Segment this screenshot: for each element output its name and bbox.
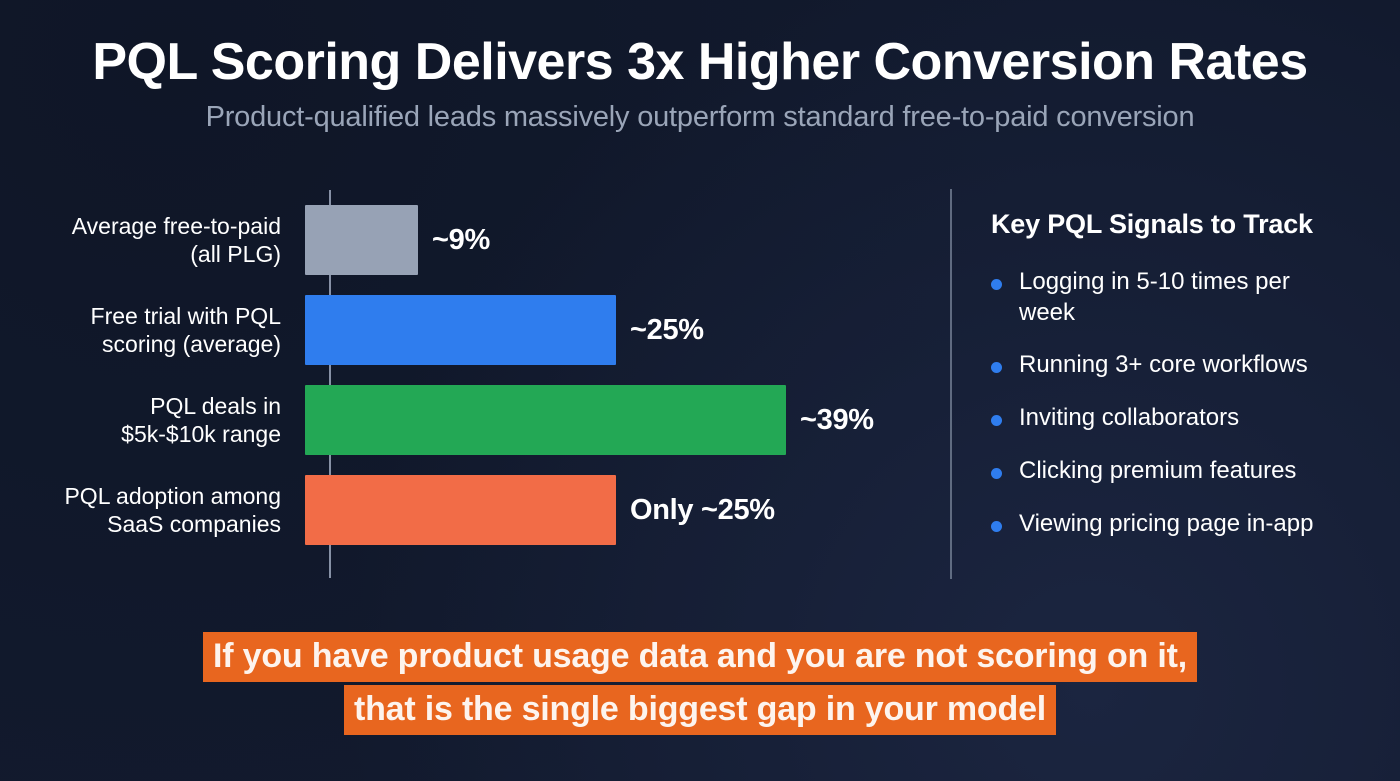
bar-track: Only ~25% <box>305 475 950 545</box>
signals-panel-title: Key PQL Signals to Track <box>991 209 1400 240</box>
bar-category-label-line2: scoring (average) <box>62 330 281 358</box>
bar-row: Average free-to-paid (all PLG) ~9% <box>62 205 950 275</box>
list-item: Logging in 5-10 times per week <box>991 267 1400 328</box>
bar-category-label-line2: (all PLG) <box>62 240 281 268</box>
bar-row: PQL deals in $5k-$10k range ~39% <box>62 385 950 455</box>
signal-text: Running 3+ core workflows <box>1019 350 1308 381</box>
bar-category-label-line1: PQL adoption among <box>62 482 281 510</box>
bar-row: PQL adoption among SaaS companies Only ~… <box>62 475 950 545</box>
bar-chart: Average free-to-paid (all PLG) ~9% Free … <box>0 185 950 583</box>
quote-line-2: that is the single biggest gap in your m… <box>344 685 1056 735</box>
slide-body: Average free-to-paid (all PLG) ~9% Free … <box>0 185 1400 583</box>
bar-track: ~9% <box>305 205 950 275</box>
vertical-divider <box>950 189 952 579</box>
bar-category-label: PQL adoption among SaaS companies <box>62 482 305 539</box>
bar-category-label-line1: PQL deals in <box>62 392 281 420</box>
signal-text: Viewing pricing page in-app <box>1019 509 1313 540</box>
bar-value-label: ~25% <box>630 314 704 347</box>
bar-track: ~39% <box>305 385 950 455</box>
highlighted-quote: If you have product usage data and you a… <box>0 632 1400 735</box>
bar-category-label: Average free-to-paid (all PLG) <box>62 212 305 269</box>
key-signals-panel: Key PQL Signals to Track Logging in 5-10… <box>952 185 1400 583</box>
list-item: Inviting collaborators <box>991 403 1400 434</box>
bar-fill-free-trial-pql-scoring <box>305 295 616 365</box>
quote-line-1: If you have product usage data and you a… <box>203 632 1197 682</box>
bar-category-label-line1: Free trial with PQL <box>62 302 281 330</box>
bullet-dot-icon <box>991 521 1002 532</box>
signal-text: Logging in 5-10 times per week <box>1019 267 1339 328</box>
page-title: PQL Scoring Delivers 3x Higher Conversio… <box>0 34 1400 90</box>
bar-fill-average-free-to-paid <box>305 205 418 275</box>
quote-row: that is the single biggest gap in your m… <box>0 685 1400 735</box>
signal-text: Inviting collaborators <box>1019 403 1239 434</box>
bar-fill-pql-adoption-saas <box>305 475 616 545</box>
bar-category-label: PQL deals in $5k-$10k range <box>62 392 305 449</box>
signal-text: Clicking premium features <box>1019 456 1296 487</box>
bar-track: ~25% <box>305 295 950 365</box>
bullet-dot-icon <box>991 362 1002 373</box>
bar-category-label-line2: $5k-$10k range <box>62 420 281 448</box>
bullet-dot-icon <box>991 415 1002 426</box>
list-item: Viewing pricing page in-app <box>991 509 1400 540</box>
bullet-dot-icon <box>991 279 1002 290</box>
quote-row: If you have product usage data and you a… <box>0 632 1400 682</box>
bar-fill-pql-deals-5k-10k <box>305 385 786 455</box>
bar-value-label: ~39% <box>800 404 874 437</box>
bar-category-label: Free trial with PQL scoring (average) <box>62 302 305 359</box>
slide-header: PQL Scoring Delivers 3x Higher Conversio… <box>0 0 1400 135</box>
page-subtitle: Product-qualified leads massively outper… <box>0 101 1400 134</box>
bar-category-label-line1: Average free-to-paid <box>62 212 281 240</box>
bar-category-label-line2: SaaS companies <box>62 510 281 538</box>
bar-value-label: Only ~25% <box>630 494 775 527</box>
bar-row: Free trial with PQL scoring (average) ~2… <box>62 295 950 365</box>
bar-list: Average free-to-paid (all PLG) ~9% Free … <box>62 185 950 583</box>
bullet-dot-icon <box>991 468 1002 479</box>
list-item: Running 3+ core workflows <box>991 350 1400 381</box>
list-item: Clicking premium features <box>991 456 1400 487</box>
bar-value-label: ~9% <box>432 224 490 257</box>
